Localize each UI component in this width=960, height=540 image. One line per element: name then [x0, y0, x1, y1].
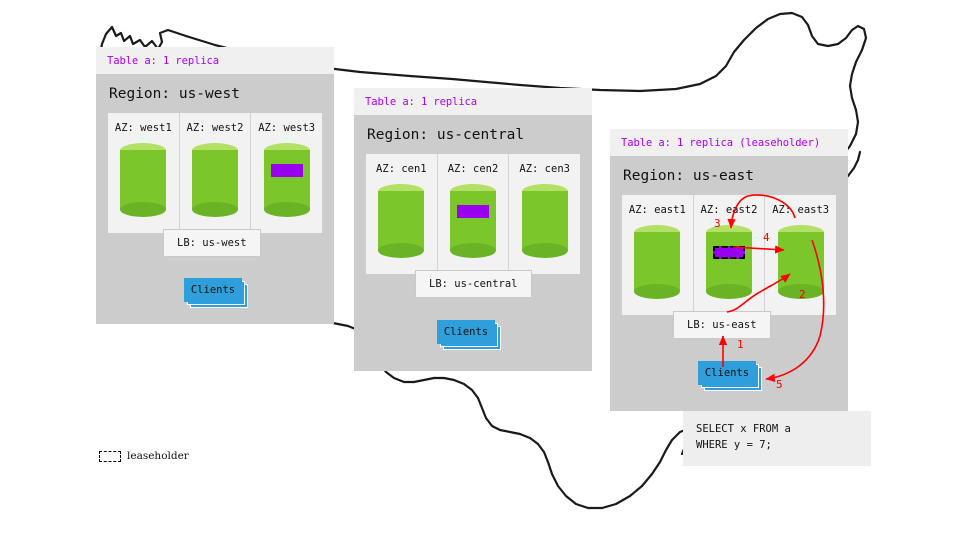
- az-label-cen1: AZ: cen1: [370, 163, 433, 175]
- cylinder-bottom-icon: [120, 202, 166, 217]
- panel-header-us-east: Table a: 1 replica (leaseholder): [610, 129, 848, 156]
- clients-us-west[interactable]: Clients: [184, 278, 242, 302]
- diagram-canvas: Table a: 1 replica Region: us-west AZ: w…: [0, 0, 960, 540]
- cylinder-bottom-icon: [450, 243, 496, 258]
- cylinder-bottom-icon: [634, 284, 680, 299]
- flow-label-1: 1: [737, 338, 744, 351]
- panel-body-us-west: Region: us-west AZ: west1 AZ: west2: [96, 74, 334, 245]
- cylinder-body-icon: [706, 232, 752, 292]
- az-cell-cen1[interactable]: AZ: cen1: [366, 154, 437, 274]
- cylinder-body-icon: [522, 191, 568, 251]
- db-node-cen2[interactable]: [450, 184, 496, 258]
- db-node-east1[interactable]: [634, 225, 680, 299]
- az-label-west1: AZ: west1: [112, 122, 175, 134]
- panel-header-us-west: Table a: 1 replica: [96, 47, 334, 74]
- leaseholder-swatch-icon: [99, 451, 121, 462]
- cylinder-body-icon: [192, 150, 238, 210]
- db-node-west2[interactable]: [192, 143, 238, 217]
- flow-label-3: 3: [714, 217, 721, 230]
- region-panel-us-east: Table a: 1 replica (leaseholder) Region:…: [610, 129, 848, 411]
- az-cell-east2[interactable]: AZ: east2: [693, 195, 765, 315]
- flow-label-4: 4: [763, 231, 770, 244]
- lb-box-us-west[interactable]: LB: us-west: [163, 229, 261, 257]
- cylinder-body-icon: [634, 232, 680, 292]
- lb-box-us-east[interactable]: LB: us-east: [673, 311, 771, 339]
- cylinder-bottom-icon: [522, 243, 568, 258]
- cylinder-bottom-icon: [706, 284, 752, 299]
- az-label-cen3: AZ: cen3: [513, 163, 576, 175]
- cylinder-body-icon: [264, 150, 310, 210]
- db-node-east2[interactable]: [706, 225, 752, 299]
- lb-box-us-central[interactable]: LB: us-central: [415, 270, 532, 298]
- cylinder-bottom-icon: [264, 202, 310, 217]
- az-cell-cen2[interactable]: AZ: cen2: [437, 154, 509, 274]
- az-label-west3: AZ: west3: [255, 122, 318, 134]
- flow-label-2: 2: [799, 288, 806, 301]
- az-cell-west1[interactable]: AZ: west1: [108, 113, 179, 233]
- cylinder-body-icon: [378, 191, 424, 251]
- region-panel-us-central: Table a: 1 replica Region: us-central AZ…: [354, 88, 592, 371]
- db-node-cen1[interactable]: [378, 184, 424, 258]
- az-label-cen2: AZ: cen2: [442, 163, 505, 175]
- replica-marker-east2-leaseholder: [713, 246, 745, 259]
- cylinder-body-icon: [778, 232, 824, 292]
- az-cell-west2[interactable]: AZ: west2: [179, 113, 251, 233]
- az-cell-east1[interactable]: AZ: east1: [622, 195, 693, 315]
- region-title-us-central: Region: us-central: [367, 127, 580, 143]
- az-label-east1: AZ: east1: [626, 204, 689, 216]
- panel-body-us-east: Region: us-east AZ: east1 AZ: east2: [610, 156, 848, 327]
- legend-label: leaseholder: [127, 450, 189, 462]
- clients-us-central[interactable]: Clients: [437, 320, 495, 344]
- legend: leaseholder: [99, 450, 189, 462]
- replica-marker-cen2: [457, 205, 489, 218]
- db-node-west1[interactable]: [120, 143, 166, 217]
- clients-card-front: Clients: [698, 361, 756, 385]
- clients-us-east[interactable]: Clients: [698, 361, 756, 385]
- panel-body-us-central: Region: us-central AZ: cen1 AZ: cen2: [354, 115, 592, 286]
- db-node-west3[interactable]: [264, 143, 310, 217]
- az-label-east3: AZ: east3: [769, 204, 832, 216]
- az-strip-us-central: AZ: cen1 AZ: cen2: [366, 154, 580, 274]
- region-title-us-east: Region: us-east: [623, 168, 836, 184]
- az-cell-west3[interactable]: AZ: west3: [250, 113, 322, 233]
- az-cell-cen3[interactable]: AZ: cen3: [508, 154, 580, 274]
- replica-marker-west3: [271, 164, 303, 177]
- sql-query-box: SELECT x FROM a WHERE y = 7;: [683, 411, 871, 466]
- clients-card-front: Clients: [437, 320, 495, 344]
- panel-header-us-central: Table a: 1 replica: [354, 88, 592, 115]
- cylinder-body-icon: [120, 150, 166, 210]
- region-title-us-west: Region: us-west: [109, 86, 322, 102]
- az-label-east2: AZ: east2: [698, 204, 761, 216]
- cylinder-bottom-icon: [378, 243, 424, 258]
- db-node-cen3[interactable]: [522, 184, 568, 258]
- cylinder-body-icon: [450, 191, 496, 251]
- flow-label-5: 5: [776, 378, 783, 391]
- clients-card-front: Clients: [184, 278, 242, 302]
- az-strip-us-west: AZ: west1 AZ: west2: [108, 113, 322, 233]
- az-label-west2: AZ: west2: [184, 122, 247, 134]
- cylinder-bottom-icon: [192, 202, 238, 217]
- region-panel-us-west: Table a: 1 replica Region: us-west AZ: w…: [96, 47, 334, 324]
